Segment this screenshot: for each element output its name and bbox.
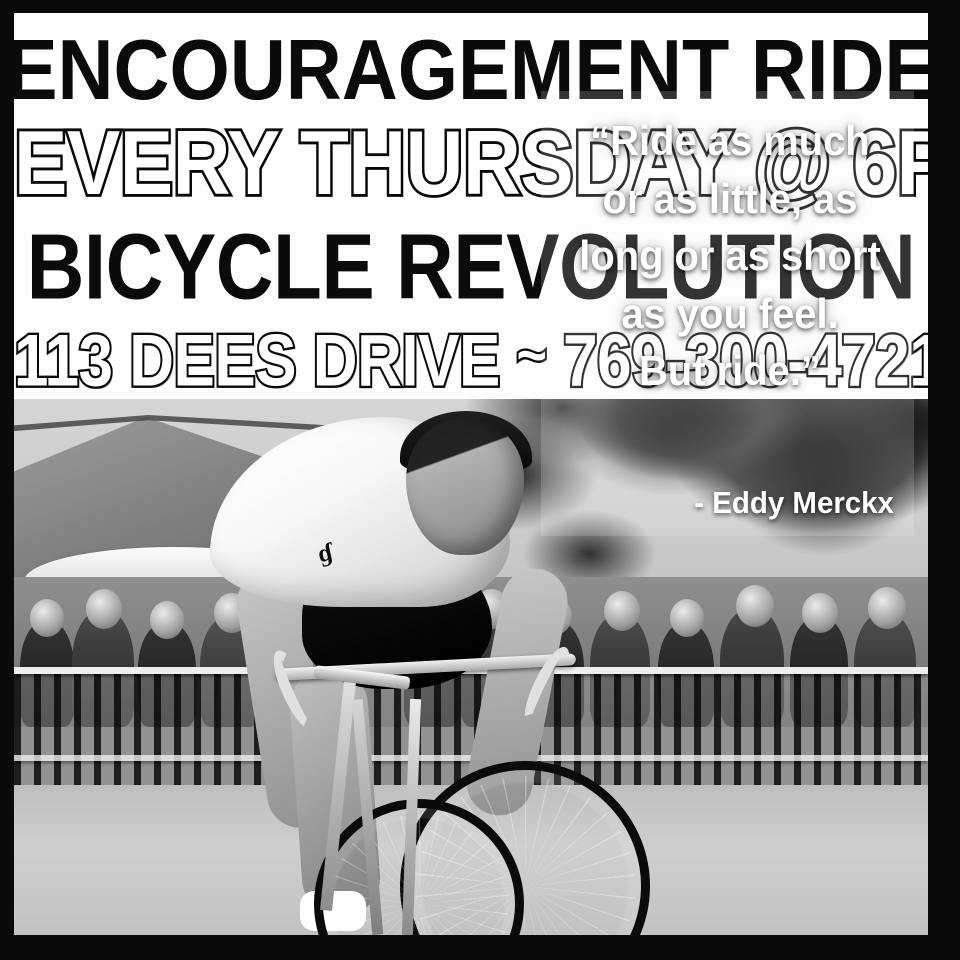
headline-event-title: ENCOURAGEMENT RIDE [14,28,928,113]
spectator-head [802,593,838,633]
quote-attribution: - Eddy Merckx [550,485,894,521]
quote-line-2: or as little, as [550,170,909,228]
cyclist-head [406,419,524,555]
spectator-head [150,601,184,639]
quote-line-1: “Ride as much [550,112,909,170]
quote-line-5: But ride.” [550,342,909,400]
jersey-logo-left-sleeve: ɠ [307,536,343,572]
quote-line-3: long or as short [550,227,909,285]
poster-root: ENCOURAGEMENT RIDE EVERY THURSDAY @ 6PM … [0,0,960,960]
spectator-head [86,589,122,629]
front-wheel-spokes [329,814,509,935]
quote-text: “Ride as much or as little, as long or a… [541,112,919,400]
photo-canvas: ɠ ɠ [14,399,928,935]
quote-line-4: as you feel. [550,285,909,343]
cyclist-photograph: ɠ ɠ [14,399,928,935]
spectator-head [30,599,64,637]
address-text: 113 DEES DRIVE [14,321,500,399]
spectator-head [670,599,704,637]
spectator-head [736,585,774,627]
spectator-head [604,591,640,631]
spectator-head [868,587,906,629]
